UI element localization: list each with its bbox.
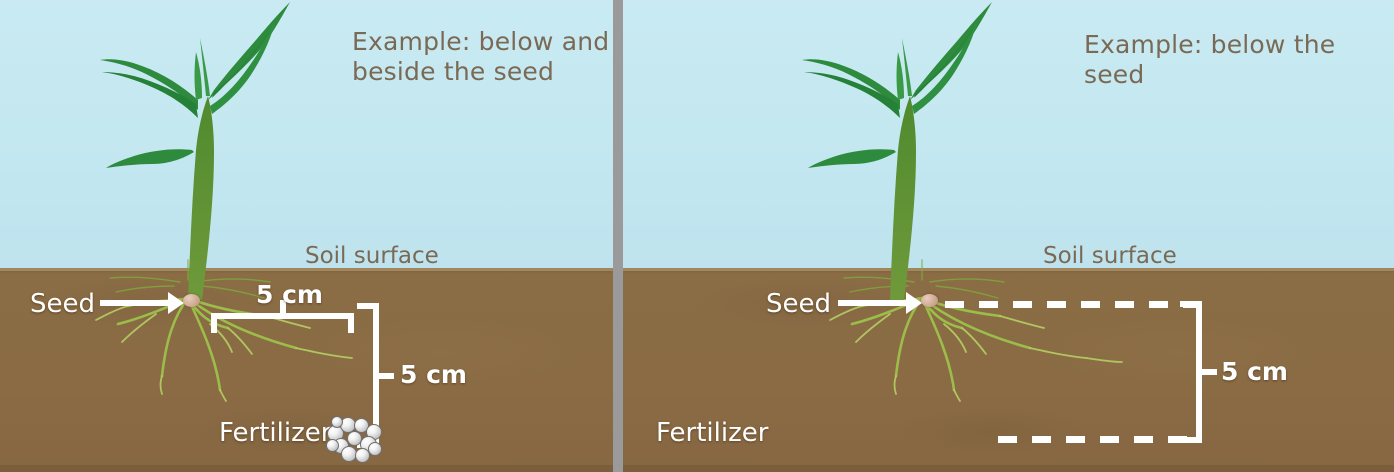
fertilizer-placement-figure: Example: below and beside the seed Soil … (0, 0, 1394, 472)
bracket-cap-left (211, 313, 217, 333)
bracket-cap-right (348, 313, 354, 333)
fertilizer-label-left: Fertilizer (219, 419, 331, 447)
seed-depth-dashed-line-right (945, 301, 1197, 308)
panel-title-left: Example: below and beside the seed (352, 27, 609, 87)
soil-surface-label-left: Soil surface (305, 243, 439, 269)
bracket-cap-top (357, 303, 379, 309)
fertilizer-label-right: Fertilizer (656, 419, 768, 447)
bracket-tick (1202, 369, 1217, 375)
panel-below-and-beside-seed: Example: below and beside the seed Soil … (0, 0, 613, 472)
seed-right (921, 294, 938, 307)
soil-surface-label-right: Soil surface (1043, 243, 1177, 269)
horizontal-distance-label-left: 5 cm (256, 281, 323, 309)
seed-arrow-shaft-right (838, 300, 910, 306)
seed-label-left: Seed (30, 290, 95, 318)
vertical-distance-label-right: 5 cm (1221, 358, 1288, 386)
vertical-distance-bracket-right (1180, 301, 1202, 443)
panel-title-right: Example: below the seed (1084, 30, 1394, 90)
horizontal-distance-bracket-left (211, 313, 354, 333)
seed-arrow-head-left (168, 292, 184, 314)
vertical-distance-label-left: 5 cm (400, 361, 467, 389)
seed-left (183, 294, 200, 307)
fertilizer-depth-dashed-line-right (998, 436, 1197, 443)
bracket-cap-bottom (357, 442, 379, 448)
seed-arrow-head-right (906, 292, 922, 314)
vertical-distance-bracket-left (357, 303, 379, 448)
bracket-tick (379, 373, 394, 379)
seed-label-right: Seed (766, 290, 831, 318)
seed-arrow-shaft-left (100, 300, 172, 306)
panel-below-seed: Example: below the seed Soil surface (623, 0, 1394, 472)
soil-floor (0, 465, 613, 472)
bracket-cap-top (1180, 301, 1202, 307)
soil-floor (623, 465, 1394, 472)
